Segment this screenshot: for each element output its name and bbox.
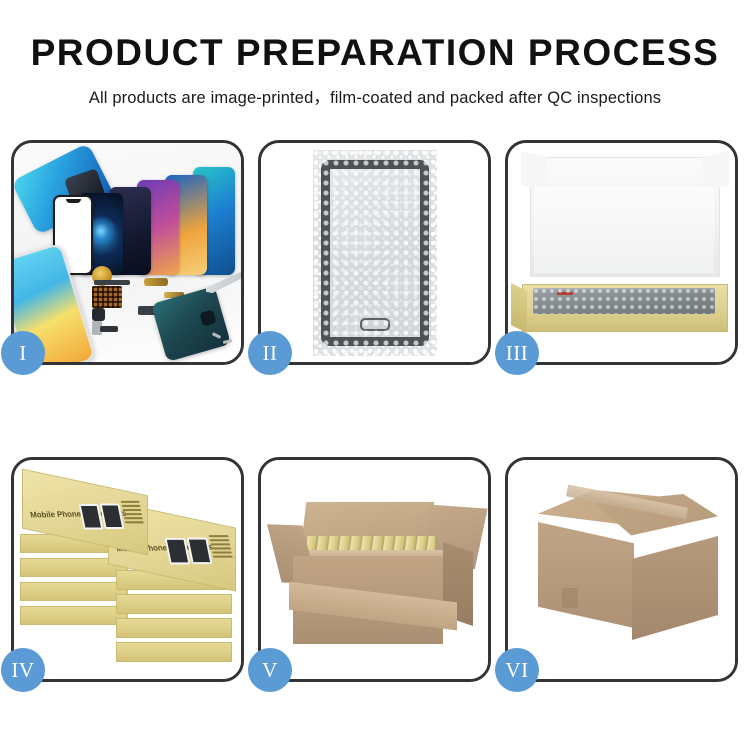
sealed-carton-group bbox=[532, 490, 718, 654]
home-button-icon bbox=[360, 318, 390, 331]
camera-module-icon bbox=[92, 308, 105, 321]
step-panel-ii: II bbox=[258, 140, 491, 365]
step-badge-iv: IV bbox=[1, 648, 45, 692]
box-stack-group: Mobile Phone Spare Parts Mobile Phone Sp… bbox=[20, 478, 234, 668]
step-badge-ii: II bbox=[248, 331, 292, 375]
step-image-v bbox=[261, 460, 488, 679]
box-print-spec-lines bbox=[209, 535, 234, 560]
page-subtitle: All products are image-printed，film-coat… bbox=[0, 84, 750, 108]
step-badge-i: I bbox=[1, 331, 45, 375]
step-image-ii bbox=[261, 143, 488, 362]
phone-screen-glass-icon bbox=[321, 160, 429, 346]
step-badge-iii: III bbox=[495, 331, 539, 375]
step-image-vi bbox=[508, 460, 735, 679]
step-panel-vi: VI bbox=[505, 457, 738, 682]
gold-connector-icon bbox=[144, 278, 168, 286]
box-edge bbox=[20, 582, 128, 601]
box-edge bbox=[116, 594, 232, 614]
screw-tray-icon bbox=[92, 286, 122, 308]
box-edge bbox=[116, 642, 232, 662]
step-image-iv: Mobile Phone Spare Parts Mobile Phone Sp… bbox=[14, 460, 241, 679]
step-image-iii bbox=[508, 143, 735, 362]
step-panel-iv: Mobile Phone Spare Parts Mobile Phone Sp… bbox=[11, 457, 244, 682]
page-title: PRODUCT PREPARATION PROCESS bbox=[0, 34, 750, 71]
spare-parts-group bbox=[92, 266, 241, 358]
step-badge-vi: VI bbox=[495, 648, 539, 692]
box-edge bbox=[116, 618, 232, 638]
step-panel-i: I bbox=[11, 140, 244, 365]
box-edge bbox=[20, 606, 128, 625]
carton-handle-tab bbox=[562, 588, 578, 608]
open-carton-group bbox=[279, 494, 475, 654]
page-header: PRODUCT PREPARATION PROCESS All products… bbox=[0, 0, 750, 108]
small-cable-icon bbox=[100, 326, 118, 332]
flex-cable-icon bbox=[94, 280, 130, 285]
box-foam-icon bbox=[534, 187, 714, 273]
carton-handle-tab bbox=[568, 646, 582, 660]
box-tray-icon bbox=[522, 284, 728, 332]
red-marker-icon bbox=[557, 292, 573, 295]
phone-back-housing-icon bbox=[151, 286, 231, 362]
box-print-spec-lines bbox=[121, 501, 145, 526]
carton-right-face bbox=[632, 536, 718, 640]
step-panel-v: V bbox=[258, 457, 491, 682]
process-steps-grid: I II III bbox=[11, 140, 739, 682]
screws-icon bbox=[212, 332, 238, 348]
phone-fan-group bbox=[57, 157, 237, 275]
step-image-i bbox=[14, 143, 241, 362]
carton-left-face bbox=[538, 522, 634, 628]
step-panel-iii: III bbox=[505, 140, 738, 365]
bubble-wrap-sheet bbox=[313, 150, 437, 356]
box-print-phone-icon bbox=[100, 503, 125, 529]
step-badge-v: V bbox=[248, 648, 292, 692]
wrapped-screen-in-box-icon bbox=[533, 288, 715, 314]
